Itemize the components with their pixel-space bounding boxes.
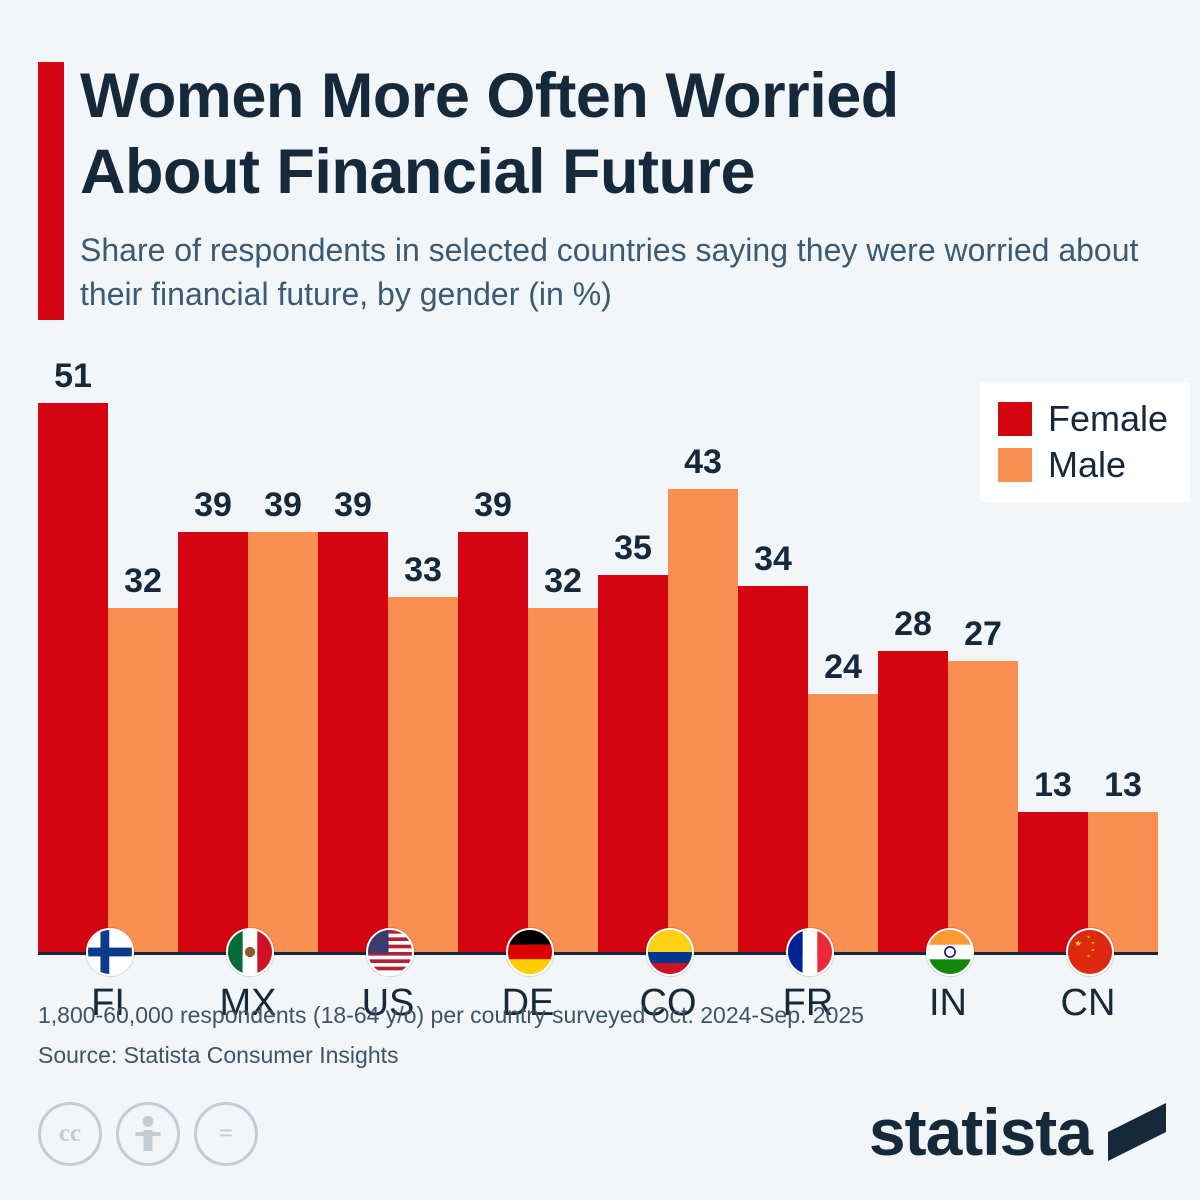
bar-value-label: 34 — [754, 540, 792, 579]
bar-slot: 39 — [318, 360, 388, 952]
flag-de — [506, 928, 554, 976]
chart-footer: 1,800-60,000 respondents (18-64 y/o) per… — [0, 990, 1200, 1200]
bar-fr-female[interactable]: 34 — [738, 586, 808, 952]
license-icons: cc = — [38, 1102, 258, 1166]
bar-group: 3424 — [738, 360, 878, 952]
bar-co-female[interactable]: 35 — [598, 575, 668, 952]
cc-icon: cc — [38, 1102, 102, 1166]
page-title: Women More Often Worried About Financial… — [80, 58, 1080, 210]
statista-logo[interactable]: statista — [869, 1094, 1166, 1170]
bar-value-label: 39 — [474, 486, 512, 525]
bar-fi-female[interactable]: 51 — [38, 403, 108, 952]
accent-bar — [38, 62, 64, 320]
bar-value-label: 32 — [124, 562, 162, 601]
bar-slot: 34 — [738, 360, 808, 952]
statista-wordmark: statista — [869, 1094, 1092, 1170]
bar-in-female[interactable]: 28 — [878, 651, 948, 952]
bar-group: 3939 — [178, 360, 318, 952]
bar-value-label: 39 — [334, 486, 372, 525]
bar-value-label: 32 — [544, 562, 582, 601]
bar-slot: 32 — [528, 360, 598, 952]
flag-fr — [786, 928, 834, 976]
legend-item-female: Female — [998, 398, 1168, 440]
bar-value-label: 51 — [54, 357, 92, 396]
bar-fi-male[interactable]: 32 — [108, 608, 178, 952]
bar-slot: 43 — [668, 360, 738, 952]
bar-fr-male[interactable]: 24 — [808, 694, 878, 952]
bar-group: 3933 — [318, 360, 458, 952]
bar-slot: 24 — [808, 360, 878, 952]
bar-value-label: 24 — [824, 648, 862, 687]
footnote-respondents: 1,800-60,000 respondents (18-64 y/o) per… — [38, 1002, 864, 1029]
bar-mx-male[interactable]: 39 — [248, 532, 318, 952]
footnote-source: Source: Statista Consumer Insights — [38, 1042, 399, 1069]
bar-slot: 33 — [388, 360, 458, 952]
bar-group: 5132 — [38, 360, 178, 952]
bar-mx-female[interactable]: 39 — [178, 532, 248, 952]
bar-slot: 51 — [38, 360, 108, 952]
bar-slot: 39 — [178, 360, 248, 952]
bar-chart: 51323939393339323543342428271313 FIMXUSD… — [0, 330, 1200, 980]
bar-slot: 32 — [108, 360, 178, 952]
bar-de-female[interactable]: 39 — [458, 532, 528, 952]
legend-label-female: Female — [1048, 398, 1168, 440]
bar-slot: 39 — [458, 360, 528, 952]
bar-slot: 35 — [598, 360, 668, 952]
bar-value-label: 13 — [1104, 766, 1142, 805]
bar-group: 3543 — [598, 360, 738, 952]
flag-co — [646, 928, 694, 976]
flag-in — [926, 928, 974, 976]
bar-value-label: 35 — [614, 529, 652, 568]
bar-value-label: 13 — [1034, 766, 1072, 805]
attribution-person-icon — [116, 1102, 180, 1166]
chart-header: Women More Often Worried About Financial… — [0, 0, 1200, 330]
bar-value-label: 39 — [264, 486, 302, 525]
bar-group: 3932 — [458, 360, 598, 952]
bar-value-label: 33 — [404, 551, 442, 590]
bar-value-label: 28 — [894, 605, 932, 644]
bar-slot: 39 — [248, 360, 318, 952]
bar-co-male[interactable]: 43 — [668, 489, 738, 952]
legend-swatch-male — [998, 448, 1032, 482]
flag-cn — [1066, 928, 1114, 976]
flag-fi — [86, 928, 134, 976]
legend-item-male: Male — [998, 444, 1168, 486]
bar-value-label: 43 — [684, 443, 722, 482]
bar-value-label: 39 — [194, 486, 232, 525]
bar-slot: 28 — [878, 360, 948, 952]
no-derivatives-equals-icon: = — [194, 1102, 258, 1166]
legend-swatch-female — [998, 402, 1032, 436]
page-subtitle: Share of respondents in selected countri… — [80, 228, 1160, 316]
bar-in-male[interactable]: 27 — [948, 661, 1018, 952]
bar-us-female[interactable]: 39 — [318, 532, 388, 952]
statista-logo-mark — [1108, 1103, 1166, 1161]
flag-mx — [226, 928, 274, 976]
bar-us-male[interactable]: 33 — [388, 597, 458, 952]
bar-value-label: 27 — [964, 615, 1002, 654]
chart-legend: Female Male — [980, 382, 1190, 502]
bar-de-male[interactable]: 32 — [528, 608, 598, 952]
legend-label-male: Male — [1048, 444, 1126, 486]
flag-us — [366, 928, 414, 976]
